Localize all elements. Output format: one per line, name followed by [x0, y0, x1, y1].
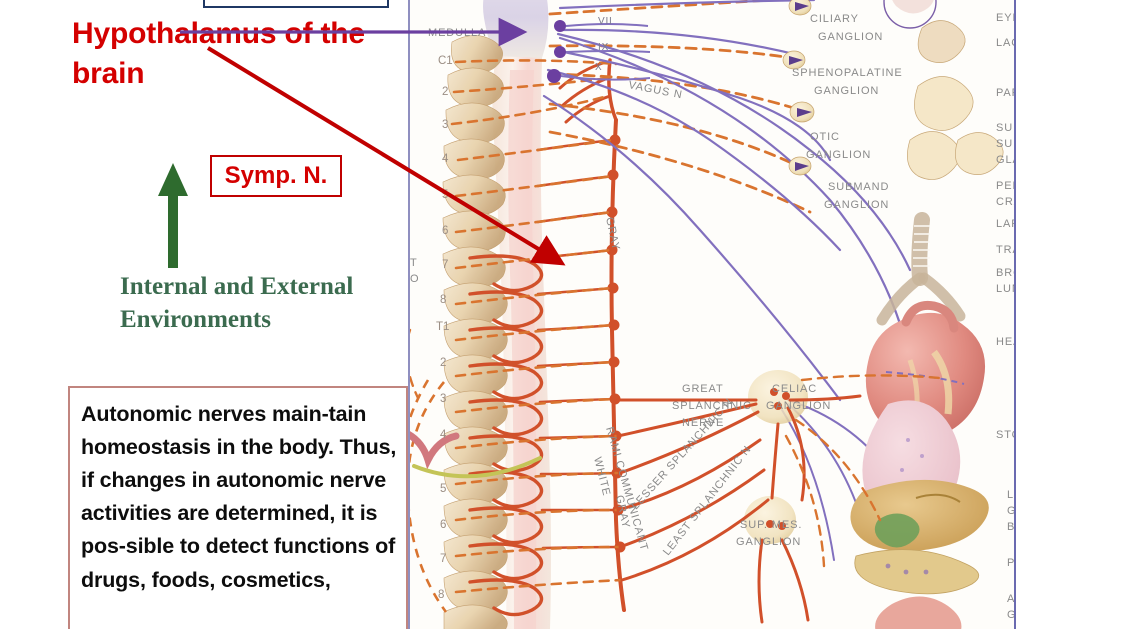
description-box: Autonomic nerves main-tain homeostasis i…: [68, 386, 408, 629]
vertebra-t6: 6: [440, 519, 446, 531]
organ-label-p: P: [1007, 557, 1014, 569]
vertebra-t8b: 8: [438, 589, 444, 601]
vertebra-t2: 2: [440, 357, 446, 369]
label-great-splanchnic-1: GREAT: [682, 383, 724, 395]
label-celiac-ganglion-2: GANGLION: [766, 400, 831, 412]
organ-label-g: G: [1007, 505, 1014, 517]
organ-label-stom: STOM: [996, 429, 1014, 441]
label-sup-mes-ganglion-2: GANGLION: [736, 536, 801, 548]
vertebra-c5: 5: [442, 189, 448, 201]
label-submand-ganglion-2: GANGLION: [824, 199, 889, 211]
green-up-arrow: [158, 163, 188, 268]
slide-canvas: Hypothalamus of the brain Symp. N. Inter…: [0, 0, 1122, 629]
organ-label-lun: LUN: [996, 283, 1014, 295]
label-medulla: MEDULLA: [428, 27, 486, 39]
organ-label-eye: EYE: [996, 12, 1014, 24]
organ-label-l: L: [1007, 489, 1014, 501]
vertebra-t3: 3: [440, 393, 446, 405]
organ-label-trac: TRAC: [996, 244, 1014, 256]
organ-label-a: A: [1007, 593, 1014, 605]
label-otic-ganglion-1: OTIC: [810, 131, 840, 143]
environment-label: Internal and External Environments: [120, 270, 410, 336]
vertebra-c2: 2: [442, 86, 448, 98]
vertebra-c7: 7: [442, 259, 448, 271]
vertebra-c3: 3: [442, 119, 448, 131]
organ-label-lac: LAC: [996, 37, 1014, 49]
organ-label-lary: LARY: [996, 218, 1014, 230]
organ-label-cra: CRA: [996, 196, 1014, 208]
organ-label-peri: PERI: [996, 180, 1014, 192]
page-title: Hypothalamus of the brain: [72, 14, 402, 93]
label-sphenopalatine-2: GANGLION: [814, 85, 879, 97]
label-sup-mes-ganglion-1: SUP. MES.: [740, 519, 802, 531]
vertebra-t7: 7: [440, 553, 446, 565]
vertebra-c6: 6: [442, 225, 448, 237]
symp-n-label: Symp. N.: [225, 164, 328, 188]
vertebra-t4: 4: [440, 429, 447, 441]
vertebra-c4: 4: [442, 153, 449, 165]
top-navy-box: [203, 0, 389, 8]
organ-label-b: B: [1007, 521, 1014, 533]
description-text: Autonomic nerves main-tain homeostasis i…: [81, 398, 397, 597]
organ-label-g2: G: [1007, 609, 1014, 621]
label-celiac-ganglion-1: CELIAC: [772, 383, 817, 395]
vertebra-t8: 8: [440, 294, 446, 306]
label-side-o: O: [410, 273, 419, 285]
organ-label-hea: HEA: [996, 336, 1014, 348]
label-submand-ganglion-1: SUBMAND: [828, 181, 889, 193]
organ-label-sub-2: SUB: [996, 138, 1014, 150]
organ-label-gla: GLA: [996, 154, 1014, 166]
vertebra-t1: T1: [436, 321, 449, 333]
label-ciliary-ganglion-2: GANGLION: [818, 31, 883, 43]
cranial-nerve-x: X: [595, 62, 602, 73]
label-ciliary-ganglion-1: CILIARY: [810, 13, 859, 25]
cranial-nerve-vii: VII: [598, 16, 613, 27]
label-sphenopalatine-1: SPHENOPALATINE: [792, 67, 903, 79]
symp-n-box: Symp. N.: [210, 155, 342, 197]
label-otic-ganglion-2: GANGLION: [806, 149, 871, 161]
organ-label-sub-1: SUB: [996, 122, 1014, 134]
vertebra-c1: C1: [438, 55, 453, 67]
label-side-t: T: [410, 257, 418, 269]
cranial-nerve-ix: IX: [598, 42, 609, 53]
anatomy-diagram-image: VII IX X: [408, 0, 1016, 629]
organ-label-bro: BRO: [996, 267, 1014, 279]
label-great-splanchnic-2: SPLANCHNIC: [672, 400, 752, 412]
organ-label-par: PAR: [996, 87, 1014, 99]
vertebra-t5: 5: [440, 483, 446, 495]
